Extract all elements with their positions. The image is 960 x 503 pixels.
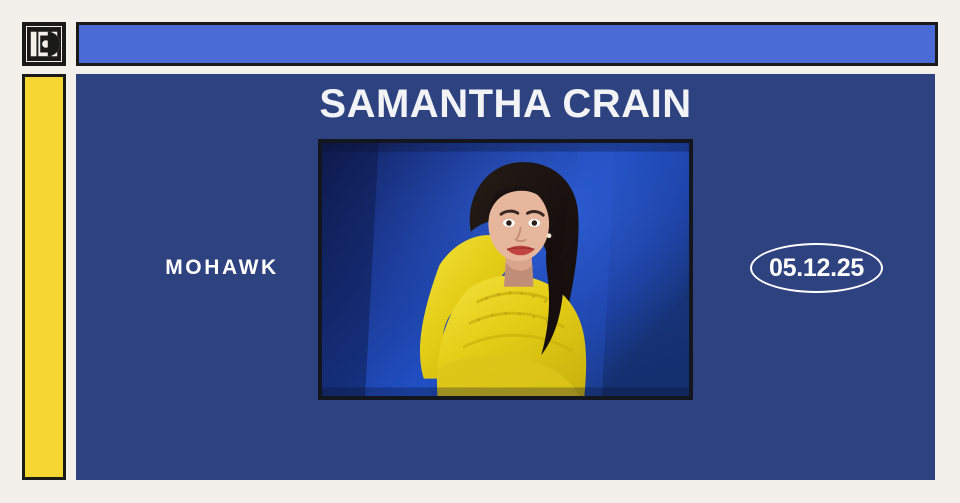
venue-label: MOHAWK	[112, 256, 332, 280]
date-text: 05.12.25	[769, 256, 864, 281]
poster-main-panel: SAMANTHA CRAIN MOHAWK 05.12.25	[76, 74, 935, 480]
artist-photo-frame	[318, 139, 693, 400]
brand-logo-tile[interactable]	[22, 22, 66, 66]
artist-name-title: SAMANTHA CRAIN	[76, 82, 935, 126]
resident-advisor-logo-icon	[26, 26, 62, 62]
date-badge: 05.12.25	[750, 243, 883, 293]
top-accent-bar-fill	[79, 25, 935, 63]
left-yellow-column	[22, 74, 66, 480]
left-yellow-column-fill	[25, 77, 63, 477]
top-accent-bar	[76, 22, 938, 66]
event-poster: SAMANTHA CRAIN MOHAWK 05.12.25	[0, 0, 960, 503]
artist-photo	[322, 143, 689, 396]
